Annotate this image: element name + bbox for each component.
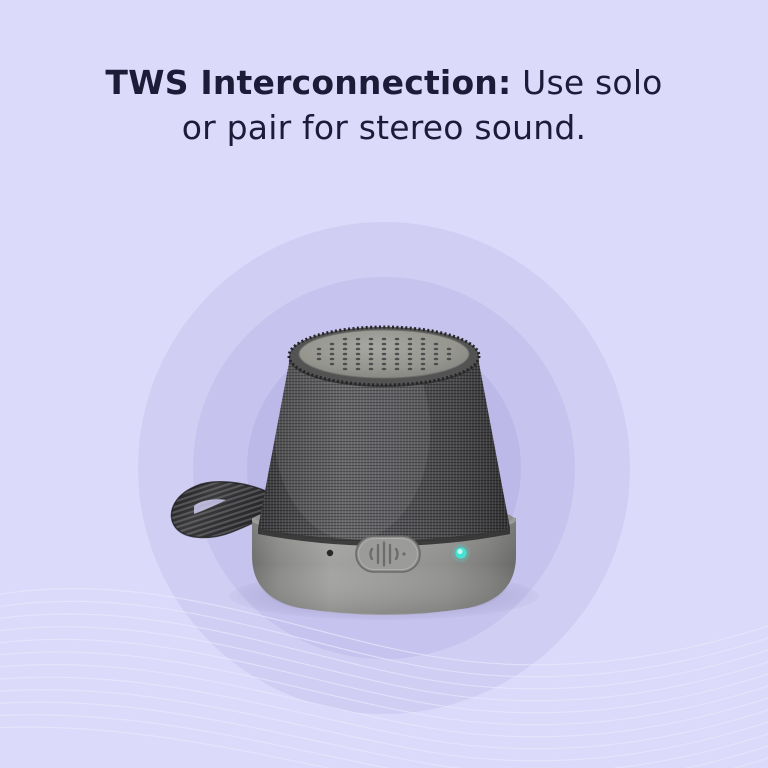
- product-feature-card: TWS Interconnection: Use solo or pair fo…: [0, 0, 768, 768]
- status-led-indicator: [452, 544, 470, 562]
- top-speaker-grille: [289, 327, 479, 387]
- feature-headline: TWS Interconnection: Use solo or pair fo…: [0, 60, 768, 150]
- headline-lead: TWS Interconnection:: [105, 63, 511, 102]
- decor-ring-inner: [247, 331, 521, 605]
- sound-play-button[interactable]: [356, 536, 420, 572]
- speaker-fabric-body: [250, 320, 520, 560]
- sound-wave-icon: [371, 543, 406, 566]
- lanyard-strap-loop: [171, 482, 276, 538]
- microphone-hole: [327, 550, 333, 556]
- product-shadow: [229, 572, 539, 620]
- decor-ring-outer: [138, 222, 630, 714]
